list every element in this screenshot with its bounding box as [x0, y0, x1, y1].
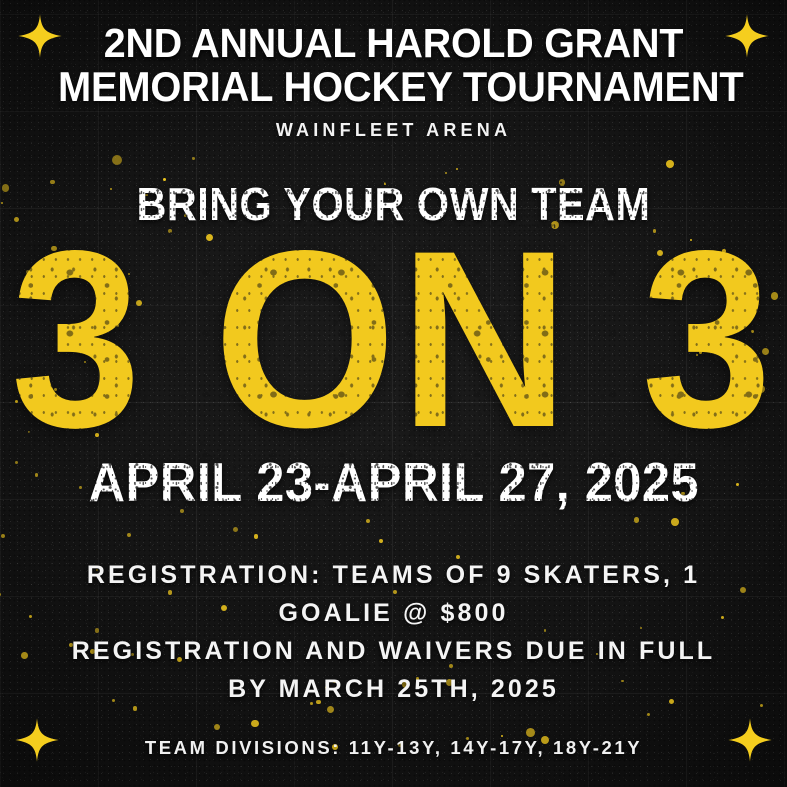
registration-line-2: GOALIE @ $800 [36, 594, 751, 632]
title-line-1: 2ND ANNUAL HAROLD GRANT [58, 22, 729, 65]
poster-content: 2ND ANNUAL HAROLD GRANT MEMORIAL HOCKEY … [0, 0, 787, 787]
poster-canvas: 2ND ANNUAL HAROLD GRANT MEMORIAL HOCKEY … [0, 0, 787, 787]
registration-line-3: REGISTRATION AND WAIVERS DUE IN FULL [36, 632, 751, 670]
registration-line-1: REGISTRATION: TEAMS OF 9 SKATERS, 1 [36, 556, 751, 594]
format-text: 3 ON 3 [11, 229, 776, 451]
title-line-2: MEMORIAL HOCKEY TOURNAMENT [58, 65, 729, 109]
page-title: 2ND ANNUAL HAROLD GRANT MEMORIAL HOCKEY … [16, 22, 772, 109]
registration-details: REGISTRATION: TEAMS OF 9 SKATERS, 1 GOAL… [0, 556, 787, 708]
venue-label: WAINFLEET ARENA [276, 120, 511, 141]
registration-line-4: BY MARCH 25TH, 2025 [36, 670, 751, 708]
format-3-on-3: 3 ON 3 [11, 229, 776, 451]
event-dates: APRIL 23-APRIL 27, 2025 [88, 455, 699, 510]
event-dates-text: APRIL 23-APRIL 27, 2025 [88, 455, 699, 510]
